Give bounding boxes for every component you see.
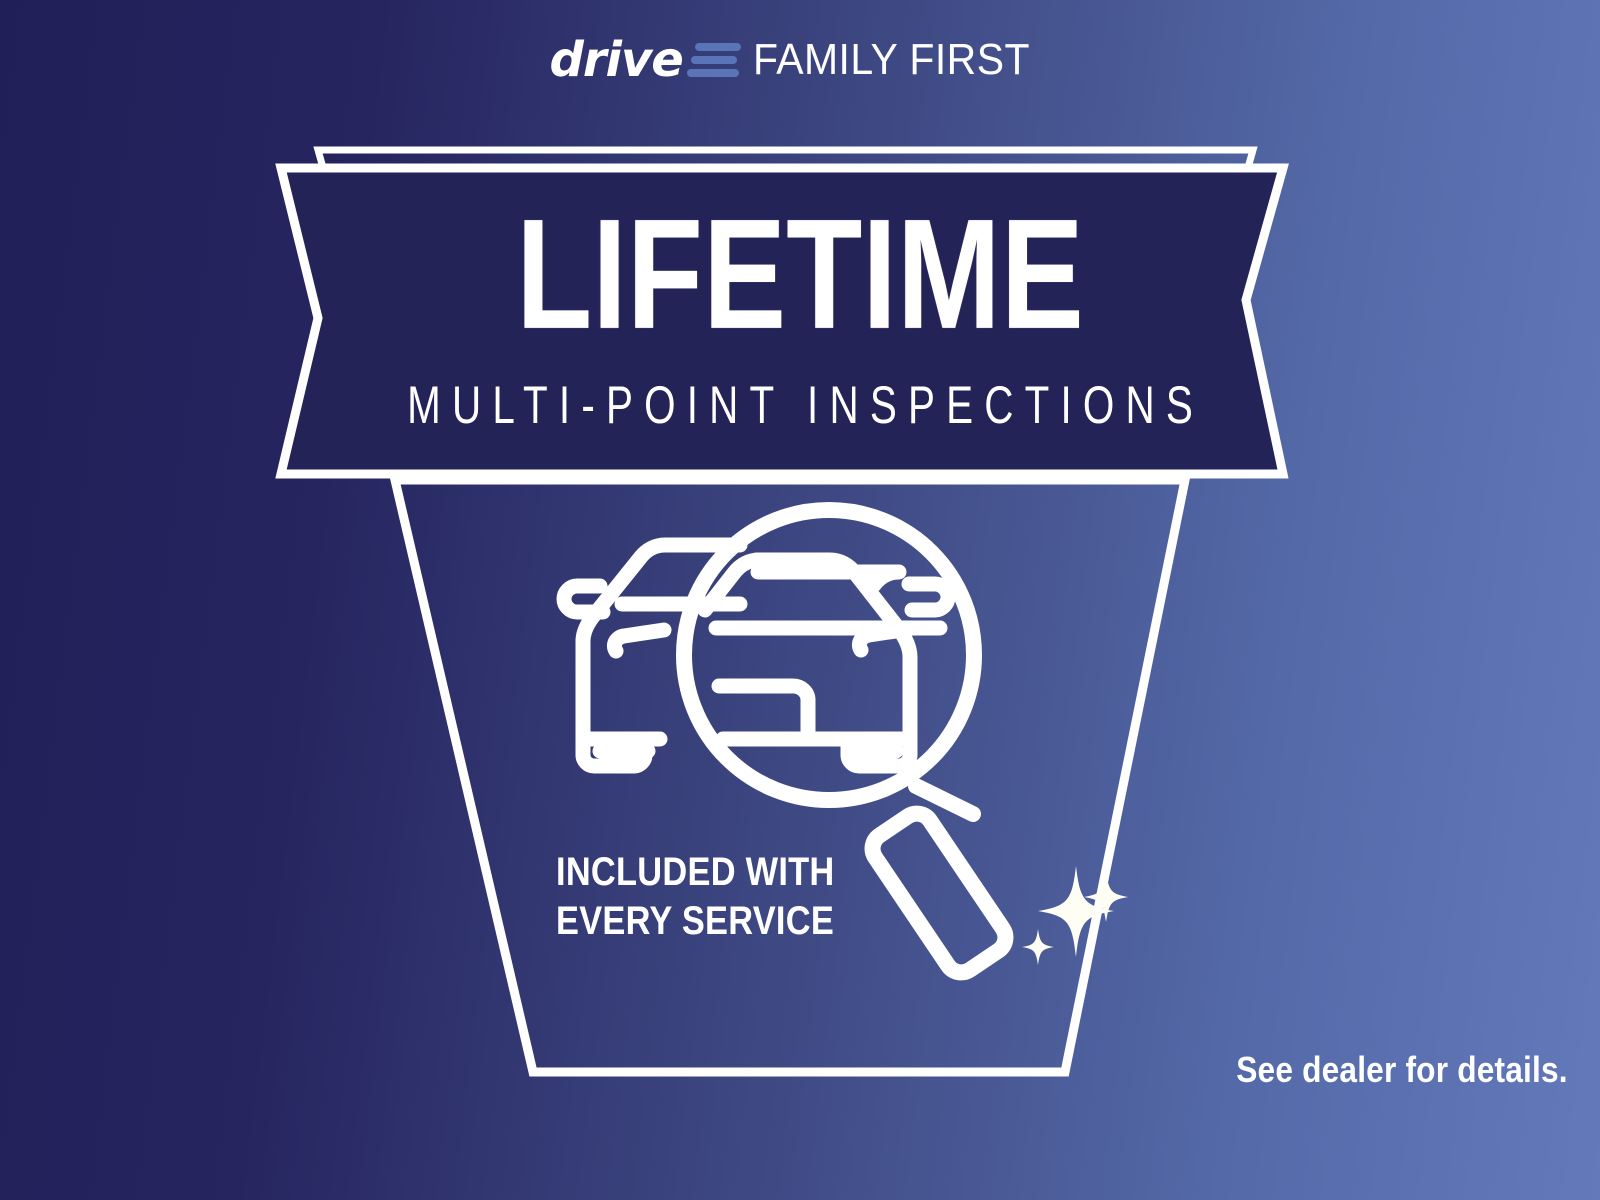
magnifier-handle-icon: [866, 807, 1011, 978]
footer-disclaimer: See dealer for details.: [1236, 1052, 1568, 1088]
promo-stage: drive FAMILY FIRST: [0, 0, 1600, 1200]
badge-subhead: MULTI-POINT INSPECTIONS: [112, 378, 1488, 431]
badge-caption: INCLUDED WITH EVERY SERVICE: [556, 848, 835, 946]
badge-headline: LIFETIME: [144, 196, 1456, 353]
lifetime-inspection-badge: [0, 0, 1600, 1200]
sparkle-star-icon: [1022, 866, 1128, 965]
